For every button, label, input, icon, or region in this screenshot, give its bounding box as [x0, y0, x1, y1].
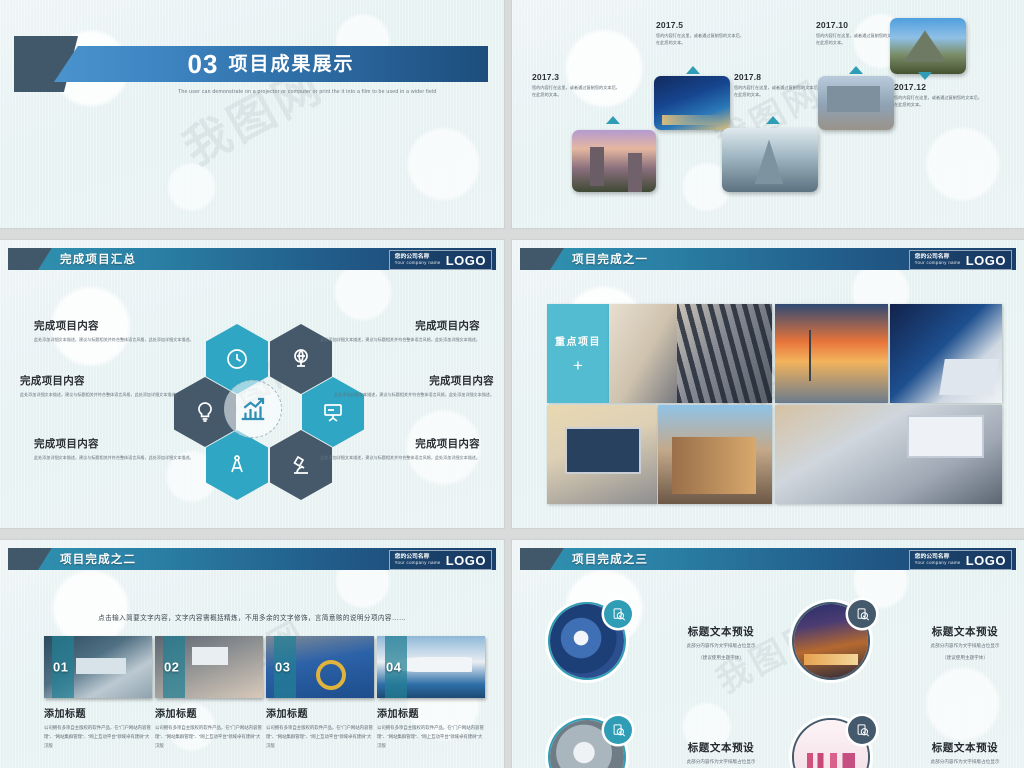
circle-text-block[interactable]: 标题文本预设 此部分内容作为文字排版占位显示 （建议使用主题字体） — [880, 740, 1024, 768]
timeline-desc: 您的内容打在这里，或者通过复制您的文本后，在此您的文本。 — [656, 32, 744, 47]
microscope-icon — [289, 453, 313, 477]
search-document-icon — [611, 723, 626, 738]
summary-item[interactable]: 完成项目内容 此处添加详细文本描述，建议与标题相关并符合整体语言风格，此处添加详… — [34, 436, 194, 462]
slide-project-one[interactable]: 我图网 项目完成之一 您的公司名称 Your company name LOGO… — [512, 240, 1024, 528]
card-number: 03 — [275, 660, 290, 675]
card-title: 添加标题 — [155, 705, 263, 720]
summary-item-title: 完成项目内容 — [34, 436, 194, 451]
logo-mark: LOGO — [966, 253, 1006, 268]
company-name-en: Your company name — [395, 261, 441, 265]
search-document-icon — [611, 607, 626, 622]
timeline-arrow-down-icon — [918, 72, 932, 80]
summary-item-title: 完成项目内容 — [20, 373, 180, 388]
company-logo-block[interactable]: 您的公司名称 Your company name LOGO — [909, 550, 1012, 570]
circle-desc-2: （建议使用主题字体） — [880, 654, 1024, 663]
slide-project-summary[interactable]: 我图网 完成项目汇总 您的公司名称 Your company name LOGO — [0, 240, 504, 528]
circle-desc-2: （建议使用主题字体） — [636, 654, 806, 663]
circle-media-block[interactable] — [548, 602, 626, 680]
night-sky-photo[interactable] — [654, 76, 730, 130]
logo-mark: LOGO — [446, 553, 486, 568]
slide-timeline[interactable]: 我图网 2017.3 您的内容打在这里，或者通过复制您的文本后，在此您的文本。 … — [512, 0, 1024, 228]
company-names: 您的公司名称 Your company name — [395, 255, 441, 265]
laptop-photo[interactable] — [547, 405, 657, 504]
circle-desc-1: 此部分内容作为文字排版占位显示 — [880, 758, 1024, 767]
logo-mark: LOGO — [966, 553, 1006, 568]
clock-icon — [225, 347, 249, 371]
header-title: 完成项目汇总 — [60, 248, 136, 270]
section-number: 03 — [188, 51, 219, 77]
slide-header: 项目完成之二 您的公司名称 Your company name LOGO — [8, 548, 496, 570]
slide-cover[interactable]: 我图网 03 项目成果展示 The user can demonstrate o… — [0, 0, 504, 228]
mountain-photo[interactable] — [890, 18, 966, 74]
globe-icon — [289, 347, 313, 371]
logo-mark: LOGO — [446, 253, 486, 268]
slide-deck-contact-sheet: 我图网 03 项目成果展示 The user can demonstrate o… — [0, 0, 1024, 768]
card-desc: 公司拥有多项自主版权的软件产品，在“门户网站内容管理”、“网站集群管理”、“网上… — [44, 724, 152, 750]
header-title: 项目完成之一 — [572, 248, 648, 270]
card-desc: 公司拥有多项自主版权的软件产品，在“门户网站内容管理”、“网站集群管理”、“网上… — [155, 724, 263, 750]
key-project-block[interactable]: 重点项目 + — [547, 304, 609, 403]
office-building-photo[interactable] — [818, 76, 894, 130]
meeting-table-photo[interactable] — [775, 405, 1002, 504]
circle-title: 标题文本预设 — [636, 624, 806, 639]
timeline-date: 2017.12 — [894, 82, 982, 92]
search-document-badge[interactable] — [848, 600, 876, 628]
water-splash-photo[interactable] — [722, 128, 818, 192]
summary-item-desc: 此处添加详细文本描述，建议与标题相关并符合整体语言风格，此处添加详细文本描述。 — [320, 454, 480, 462]
timeline-entry[interactable]: 2017.5 您的内容打在这里，或者通过复制您的文本后，在此您的文本。 — [656, 20, 744, 47]
card-number: 02 — [164, 660, 179, 675]
search-document-icon — [855, 723, 870, 738]
numbered-card[interactable]: 01 添加标题 公司拥有多项自主版权的软件产品，在“门户网站内容管理”、“网站集… — [44, 636, 152, 750]
center-growth-badge — [224, 380, 282, 438]
summary-item-desc: 此处添加详细文本描述，建议与标题相关并符合整体语言风格，此处添加详细文本描述。 — [20, 391, 180, 399]
timeline-entry[interactable]: 2017.8 您的内容打在这里，或者通过复制您的文本后，在此您的文本。 — [734, 72, 822, 99]
summary-item-desc: 此处添加详细文本描述，建议与标题相关并符合整体语言风格，此处添加详细文本描述。 — [34, 454, 194, 462]
card-image[interactable]: 01 — [44, 636, 152, 698]
search-document-badge[interactable] — [604, 716, 632, 744]
cover-banner: 03 项目成果展示 — [14, 36, 488, 92]
timeline-desc: 您的内容打在这里，或者通过复制您的文本后，在此您的文本。 — [532, 84, 620, 99]
search-document-badge[interactable] — [848, 716, 876, 744]
circle-desc-1: 此部分内容作为文字排版占位显示 — [636, 758, 806, 767]
card-image[interactable]: 04 — [377, 636, 485, 698]
circle-desc-1: 此部分内容作为文字排版占位显示 — [880, 642, 1024, 651]
company-logo-block[interactable]: 您的公司名称 Your company name LOGO — [389, 550, 492, 570]
company-name-en: Your company name — [395, 561, 441, 565]
slide-project-two[interactable]: 我图网 项目完成之二 您的公司名称 Your company name LOGO… — [0, 540, 504, 768]
timeline-arrow-up-icon — [686, 66, 700, 74]
card-number: 04 — [386, 660, 401, 675]
circle-media-block[interactable] — [792, 602, 870, 680]
circle-media-block[interactable] — [548, 718, 626, 768]
lightbulb-icon — [193, 400, 217, 424]
harbor-sunset-photo[interactable] — [775, 304, 888, 403]
summary-item[interactable]: 完成项目内容 此处添加详细文本描述，建议与标题相关并符合整体语言风格，此处添加详… — [334, 373, 494, 399]
cover-subtitle: The user can demonstrate on a projector … — [178, 88, 478, 97]
timeline-date: 2017.5 — [656, 20, 744, 30]
header-title: 项目完成之三 — [572, 548, 648, 570]
numbered-card[interactable]: 04 添加标题 公司拥有多项自主版权的软件产品，在“门户网站内容管理”、“网站集… — [377, 636, 485, 750]
summary-item-title: 完成项目内容 — [320, 318, 480, 333]
slide-header: 项目完成之一 您的公司名称 Your company name LOGO — [520, 248, 1016, 270]
circle-text-block[interactable]: 标题文本预设 此部分内容作为文字排版占位显示 （建议使用主题字体） — [636, 740, 806, 768]
timeline-entry[interactable]: 2017.12 您的内容打在这里，或者通过复制您的文本后，在此您的文本。 — [894, 82, 982, 109]
circle-title: 标题文本预设 — [880, 740, 1024, 755]
summary-item[interactable]: 完成项目内容 此处添加详细文本描述，建议与标题相关并符合整体语言风格，此处添加详… — [320, 318, 480, 344]
card-image[interactable]: 03 — [266, 636, 374, 698]
section-title: 项目成果展示 — [228, 55, 354, 74]
card-desc: 公司拥有多项自主版权的软件产品，在“门户网站内容管理”、“网站集群管理”、“网上… — [266, 724, 374, 750]
card-desc: 公司拥有多项自主版权的软件产品，在“门户网站内容管理”、“网站集群管理”、“网上… — [377, 724, 485, 750]
company-names: 您的公司名称 Your company name — [395, 555, 441, 565]
circle-media-block[interactable] — [792, 718, 870, 768]
card-title: 添加标题 — [44, 705, 152, 720]
circle-text-block[interactable]: 标题文本预设 此部分内容作为文字排版占位显示 （建议使用主题字体） — [880, 624, 1024, 662]
lead-paragraph: 点击输入简要文字内容，文字内容需概括精炼，不用多余的文字修饰，言简意赅的说明分项… — [0, 612, 504, 622]
slide-header: 完成项目汇总 您的公司名称 Your company name LOGO — [8, 248, 496, 270]
compass-icon — [225, 453, 249, 477]
summary-item-title: 完成项目内容 — [34, 318, 194, 333]
summary-item[interactable]: 完成项目内容 此处添加详细文本描述，建议与标题相关并符合整体语言风格，此处添加详… — [20, 373, 180, 399]
summary-item[interactable]: 完成项目内容 此处添加详细文本描述，建议与标题相关并符合整体语言风格，此处添加详… — [320, 436, 480, 462]
summary-item-desc: 此处添加详细文本描述，建议与标题相关并符合整体语言风格，此处添加详细文本描述。 — [34, 336, 194, 344]
timeline-desc: 您的内容打在这里，或者通过复制您的文本后，在此您的文本。 — [734, 84, 822, 99]
card-number: 01 — [53, 660, 68, 675]
circle-text-block[interactable]: 标题文本预设 此部分内容作为文字排版占位显示 （建议使用主题字体） — [636, 624, 806, 662]
header-title: 项目完成之二 — [60, 548, 136, 570]
circle-desc-1: 此部分内容作为文字排版占位显示 — [636, 642, 806, 651]
slide-project-three[interactable]: 我图网 项目完成之三 您的公司名称 Your company name LOGO… — [512, 540, 1024, 768]
slide-header: 项目完成之三 您的公司名称 Your company name LOGO — [520, 548, 1016, 570]
key-project-label: 重点项目 — [555, 333, 601, 348]
search-document-badge[interactable] — [604, 600, 632, 628]
card-image[interactable]: 02 — [155, 636, 263, 698]
numbered-card[interactable]: 03 添加标题 公司拥有多项自主版权的软件产品，在“门户网站内容管理”、“网站集… — [266, 636, 374, 750]
timeline-arrow-up-icon — [849, 66, 863, 74]
circle-title: 标题文本预设 — [880, 624, 1024, 639]
business-tech-photo[interactable] — [890, 304, 1002, 403]
company-logo-block[interactable]: 您的公司名称 Your company name LOGO — [909, 250, 1012, 270]
banner-bar-shape: 03 项目成果展示 — [54, 46, 488, 82]
company-name-en: Your company name — [915, 261, 961, 265]
summary-item-title: 完成项目内容 — [320, 436, 480, 451]
numbered-card[interactable]: 02 添加标题 公司拥有多项自主版权的软件产品，在“门户网站内容管理”、“网站集… — [155, 636, 263, 750]
summary-item-desc: 此处添加详细文本描述，建议与标题相关并符合整体语言风格，此处添加详细文本描述。 — [320, 336, 480, 344]
company-logo-block[interactable]: 您的公司名称 Your company name LOGO — [389, 250, 492, 270]
add-plus-icon[interactable]: + — [573, 357, 583, 374]
circle-title: 标题文本预设 — [636, 740, 806, 755]
timeline-arrow-up-icon — [606, 116, 620, 124]
timeline-entry[interactable]: 2017.3 您的内容打在这里，或者通过复制您的文本后，在此您的文本。 — [532, 72, 620, 99]
banner-text: 03 项目成果展示 — [54, 46, 488, 82]
timeline-desc: 您的内容打在这里，或者通过复制您的文本后，在此您的文本。 — [894, 94, 982, 109]
growth-chart-icon — [238, 394, 268, 424]
modern-hall-photo[interactable] — [609, 304, 772, 403]
timeline-arrow-up-icon — [766, 116, 780, 124]
easel-icon — [321, 400, 345, 424]
company-name-en: Your company name — [915, 561, 961, 565]
summary-item[interactable]: 完成项目内容 此处添加详细文本描述，建议与标题相关并符合整体语言风格，此处添加详… — [34, 318, 194, 344]
card-title: 添加标题 — [266, 705, 374, 720]
card-title: 添加标题 — [377, 705, 485, 720]
search-document-icon — [855, 607, 870, 622]
storefront-photo[interactable] — [658, 405, 772, 504]
company-names: 您的公司名称 Your company name — [915, 555, 961, 565]
timeline-date: 2017.3 — [532, 72, 620, 82]
summary-item-title: 完成项目内容 — [334, 373, 494, 388]
towers-photo[interactable] — [572, 130, 656, 192]
timeline-date: 2017.8 — [734, 72, 822, 82]
summary-item-desc: 此处添加详细文本描述，建议与标题相关并符合整体语言风格，此处添加详细文本描述。 — [334, 391, 494, 399]
company-names: 您的公司名称 Your company name — [915, 255, 961, 265]
